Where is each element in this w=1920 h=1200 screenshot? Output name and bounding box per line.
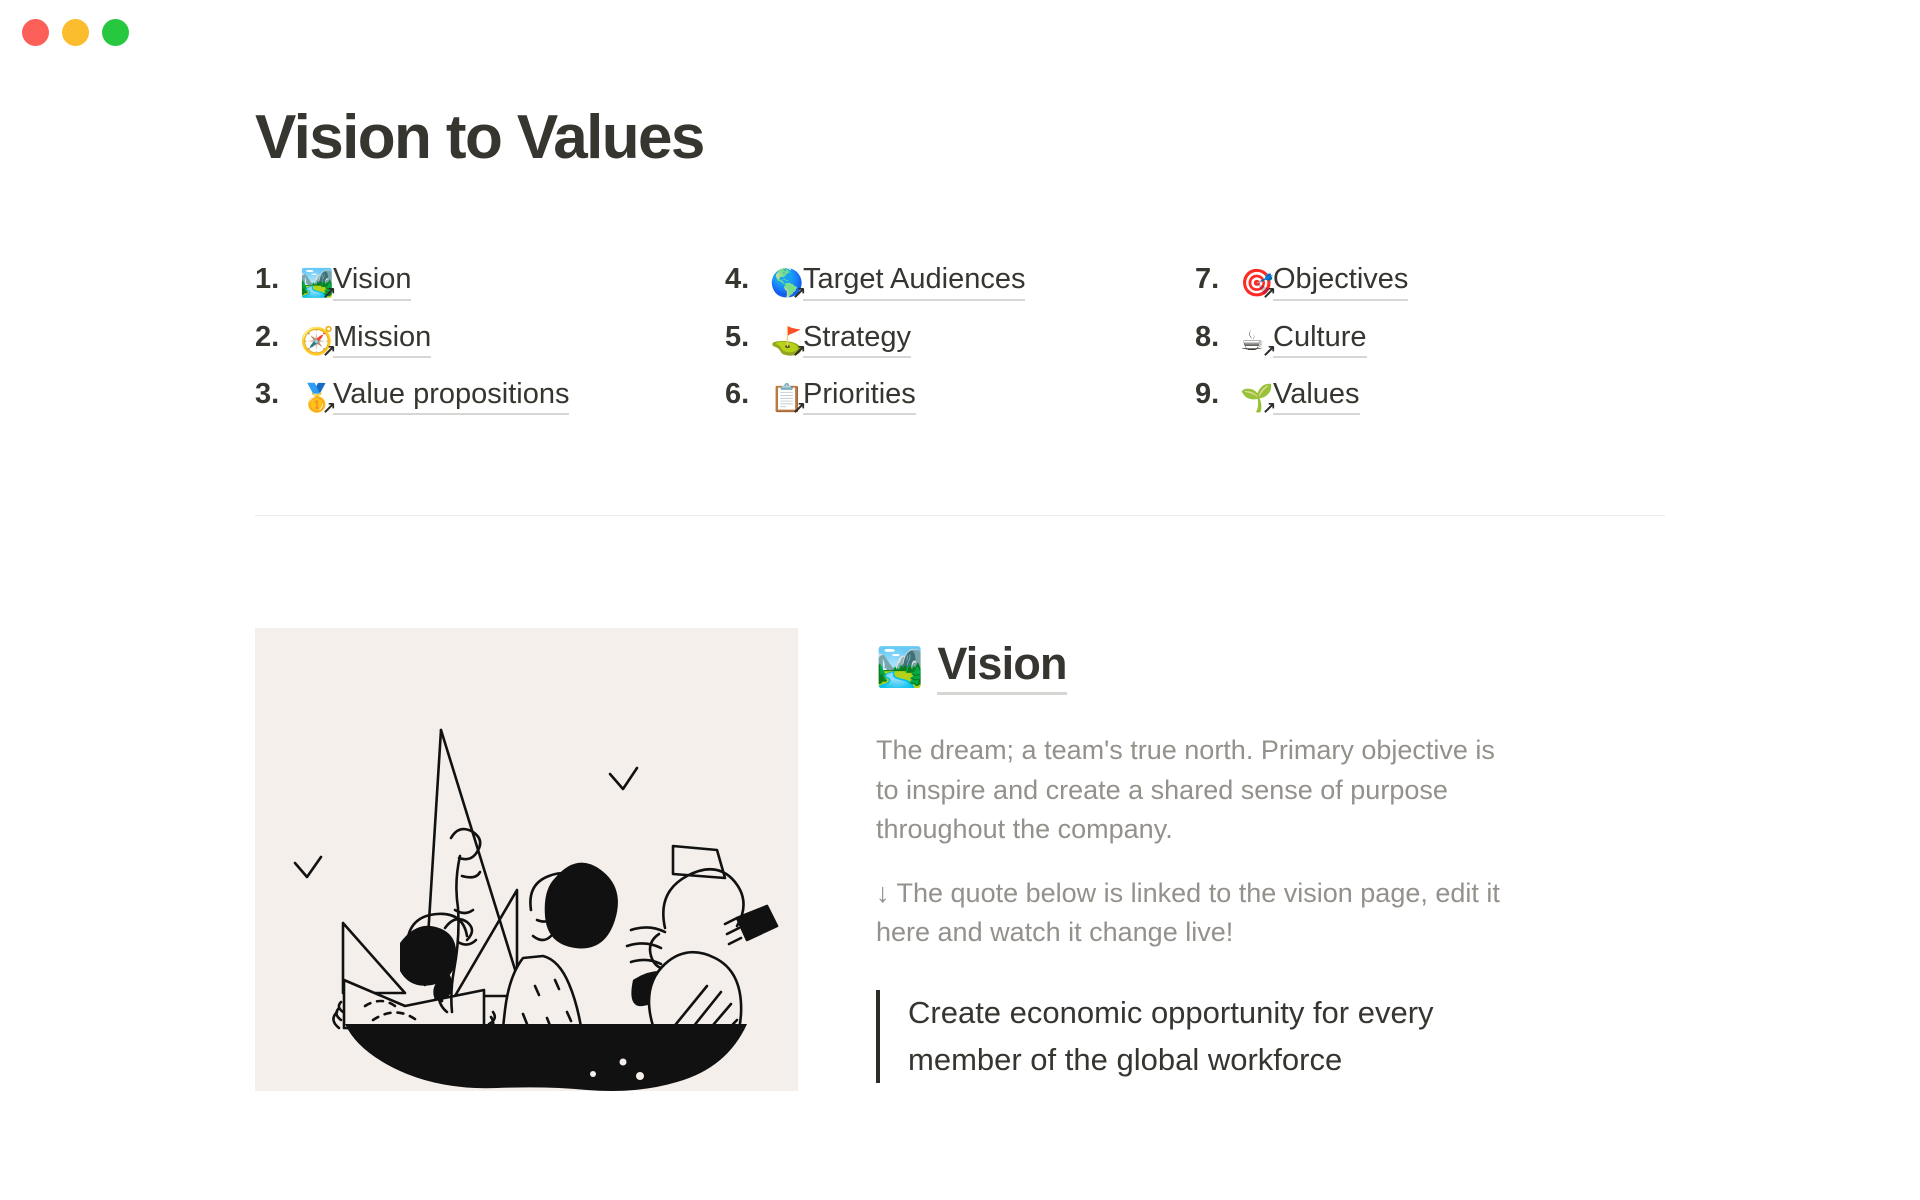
link-arrow-icon: ↗: [790, 400, 808, 418]
document-page: Vision to Values 1. 🏞️ ↗ Vision 2.: [0, 64, 1920, 1200]
index-item-culture[interactable]: 8. ☕ ↗ Culture: [1195, 320, 1665, 358]
index-number: 5.: [725, 320, 759, 355]
index-number: 7.: [1195, 262, 1229, 297]
vision-description: The dream; a team's true north. Primary …: [876, 731, 1516, 849]
vision-text-block: 🏞️ Vision The dream; a team's true north…: [876, 628, 1516, 1091]
index-number: 2.: [255, 320, 289, 355]
vision-section: 🏞️ Vision The dream; a team's true north…: [255, 628, 1665, 1091]
index-item-label[interactable]: Target Audiences: [803, 262, 1025, 300]
window-maximize-button[interactable]: [102, 19, 129, 46]
index-item-label[interactable]: Culture: [1273, 320, 1367, 358]
index-number: 9.: [1195, 377, 1229, 412]
vision-quote-text[interactable]: Create economic opportunity for every me…: [908, 990, 1508, 1083]
index-column-3: 7. 🎯 ↗ Objectives 8. ☕ ↗: [1195, 262, 1665, 415]
index-list: 1. 🏞️ ↗ Vision 2. 🧭 ↗: [255, 262, 1665, 415]
globe-americas-icon: 🌎 ↗: [770, 268, 801, 299]
window-close-button[interactable]: [22, 19, 49, 46]
index-item-priorities[interactable]: 6. 📋 ↗ Priorities: [725, 377, 1195, 415]
index-item-label[interactable]: Mission: [333, 320, 431, 358]
sailboat-team-illustration: [255, 628, 798, 1091]
index-item-values[interactable]: 9. 🌱 ↗ Values: [1195, 377, 1665, 415]
vision-quote-block: Create economic opportunity for every me…: [876, 990, 1516, 1083]
link-arrow-icon: ↗: [1260, 343, 1278, 361]
vision-heading: 🏞️ Vision: [876, 638, 1516, 695]
section-divider: [255, 515, 1665, 516]
index-item-label[interactable]: Priorities: [803, 377, 916, 415]
link-arrow-icon: ↗: [320, 400, 338, 418]
dart-target-icon: 🎯 ↗: [1240, 268, 1271, 299]
window-titlebar: [0, 0, 1920, 64]
mountain-icon: 🏞️: [876, 648, 923, 686]
vision-heading-label[interactable]: Vision: [937, 638, 1066, 695]
link-arrow-icon: ↗: [790, 285, 808, 303]
index-item-label[interactable]: Vision: [333, 262, 411, 300]
index-item-label[interactable]: Strategy: [803, 320, 911, 358]
index-item-mission[interactable]: 2. 🧭 ↗ Mission: [255, 320, 725, 358]
link-arrow-icon: ↗: [1260, 400, 1278, 418]
quote-accent-bar: [876, 990, 880, 1083]
clipboard-icon: 📋 ↗: [770, 383, 801, 414]
index-item-strategy[interactable]: 5. ⛳ ↗ Strategy: [725, 320, 1195, 358]
index-number: 1.: [255, 262, 289, 297]
gold-medal-icon: 🥇 ↗: [300, 383, 331, 414]
mountain-icon: 🏞️ ↗: [300, 268, 331, 299]
index-item-vision[interactable]: 1. 🏞️ ↗ Vision: [255, 262, 725, 300]
index-column-2: 4. 🌎 ↗ Target Audiences 5. ⛳ ↗: [725, 262, 1195, 415]
golf-flag-icon: ⛳ ↗: [770, 326, 801, 357]
link-arrow-icon: ↗: [320, 285, 338, 303]
index-number: 6.: [725, 377, 759, 412]
index-number: 4.: [725, 262, 759, 297]
page-title: Vision to Values: [255, 104, 1665, 172]
vision-hint: ↓ The quote below is linked to the visio…: [876, 874, 1516, 953]
index-number: 8.: [1195, 320, 1229, 355]
link-arrow-icon: ↗: [1260, 285, 1278, 303]
coffee-icon: ☕ ↗: [1240, 326, 1271, 357]
link-arrow-icon: ↗: [320, 343, 338, 361]
index-number: 3.: [255, 377, 289, 412]
index-item-label[interactable]: Objectives: [1273, 262, 1408, 300]
window-minimize-button[interactable]: [62, 19, 89, 46]
index-item-objectives[interactable]: 7. 🎯 ↗ Objectives: [1195, 262, 1665, 300]
index-item-label[interactable]: Value propositions: [333, 377, 569, 415]
index-column-1: 1. 🏞️ ↗ Vision 2. 🧭 ↗: [255, 262, 725, 415]
seedling-icon: 🌱 ↗: [1240, 383, 1271, 414]
vision-illustration: [255, 628, 798, 1091]
link-arrow-icon: ↗: [790, 343, 808, 361]
index-item-label[interactable]: Values: [1273, 377, 1360, 415]
compass-icon: 🧭 ↗: [300, 326, 331, 357]
index-item-target-audiences[interactable]: 4. 🌎 ↗ Target Audiences: [725, 262, 1195, 300]
index-item-value-propositions[interactable]: 3. 🥇 ↗ Value propositions: [255, 377, 725, 415]
